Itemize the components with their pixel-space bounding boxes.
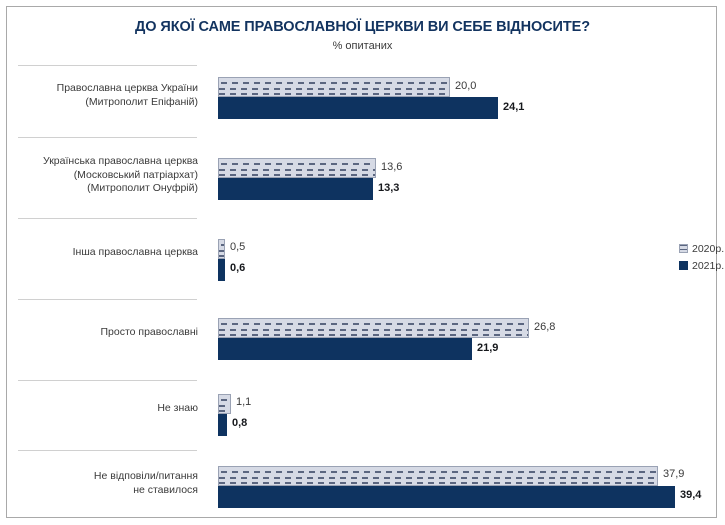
category-label: Інша православна церква [0, 246, 198, 260]
row-separator [18, 299, 197, 300]
bar-2020 [218, 318, 529, 338]
bar-2021 [218, 338, 472, 360]
legend-item-2020[interactable]: 2020р. [679, 240, 724, 257]
bar-hatch [219, 405, 230, 407]
chart-legend: 2020р. 2021р. [679, 240, 724, 274]
bar-hatch [219, 482, 657, 484]
legend-label: 2021р. [692, 260, 724, 272]
bar-value-2021: 21,9 [477, 342, 498, 354]
category-label-line: (Митрополит Онуфрій) [0, 182, 198, 196]
bar-value-2020: 13,6 [381, 161, 402, 173]
bar-hatch [219, 250, 224, 252]
category-label: Не відповіли/питання не ставилося [0, 470, 198, 497]
category-label-line: (Митрополит Епіфаній) [0, 96, 198, 110]
legend-label: 2020р. [692, 243, 724, 255]
bar-hatch [219, 93, 449, 95]
bar-hatch [219, 255, 224, 257]
bar-value-2020: 37,9 [663, 468, 684, 480]
category-label-line: Просто православні [0, 326, 198, 340]
bar-hatch [219, 410, 230, 412]
category-label-line: Не відповіли/питання [0, 470, 198, 484]
legend-swatch-icon [679, 261, 688, 270]
bar-value-2021: 0,6 [230, 262, 245, 274]
bar-2020 [218, 158, 376, 178]
category-label-line: Православна церква України [0, 82, 198, 96]
row-separator [18, 65, 197, 66]
bar-2021 [218, 414, 227, 436]
bar-hatch [219, 334, 528, 336]
bar-value-2020: 0,5 [230, 241, 245, 253]
bar-value-2020: 26,8 [534, 321, 555, 333]
bar-value-2021: 24,1 [503, 101, 524, 113]
row-separator [18, 137, 197, 138]
bar-hatch [219, 329, 528, 331]
category-label-line: Не знаю [0, 402, 198, 416]
row-separator [18, 218, 197, 219]
row-separator [18, 380, 197, 381]
category-label: Не знаю [0, 402, 198, 416]
bar-hatch [219, 174, 375, 176]
bar-2020 [218, 239, 225, 259]
bar-2021 [218, 259, 225, 281]
bar-hatch [219, 88, 449, 90]
bar-value-2021: 13,3 [378, 182, 399, 194]
category-label-line: Інша православна церква [0, 246, 198, 260]
category-label: Православна церква України (Митрополит Е… [0, 82, 198, 109]
bar-2021 [218, 97, 498, 119]
row-separator [18, 450, 197, 451]
legend-swatch-icon [679, 244, 688, 253]
bar-2020 [218, 466, 658, 486]
category-label-line: не ставилося [0, 484, 198, 498]
bar-value-2021: 39,4 [680, 489, 701, 501]
category-label-line: (Московський патріархат) [0, 169, 198, 183]
bar-2021 [218, 178, 373, 200]
category-label: Просто православні [0, 326, 198, 340]
bar-hatch [219, 169, 375, 171]
bar-2020 [218, 394, 231, 414]
bar-value-2020: 20,0 [455, 80, 476, 92]
category-label-line: Українська православна церква [0, 155, 198, 169]
bar-hatch [219, 477, 657, 479]
category-label: Українська православна церква (Московськ… [0, 155, 198, 196]
bar-value-2020: 1,1 [236, 396, 251, 408]
legend-item-2021[interactable]: 2021р. [679, 257, 724, 274]
bar-2021 [218, 486, 675, 508]
bar-value-2021: 0,8 [232, 417, 247, 429]
plot-area: Православна церква України (Митрополит Е… [0, 0, 725, 525]
chart-container: ДО ЯКОЇ САМЕ ПРАВОСЛАВНОЇ ЦЕРКВИ ВИ СЕБЕ… [0, 0, 725, 525]
bar-2020 [218, 77, 450, 97]
